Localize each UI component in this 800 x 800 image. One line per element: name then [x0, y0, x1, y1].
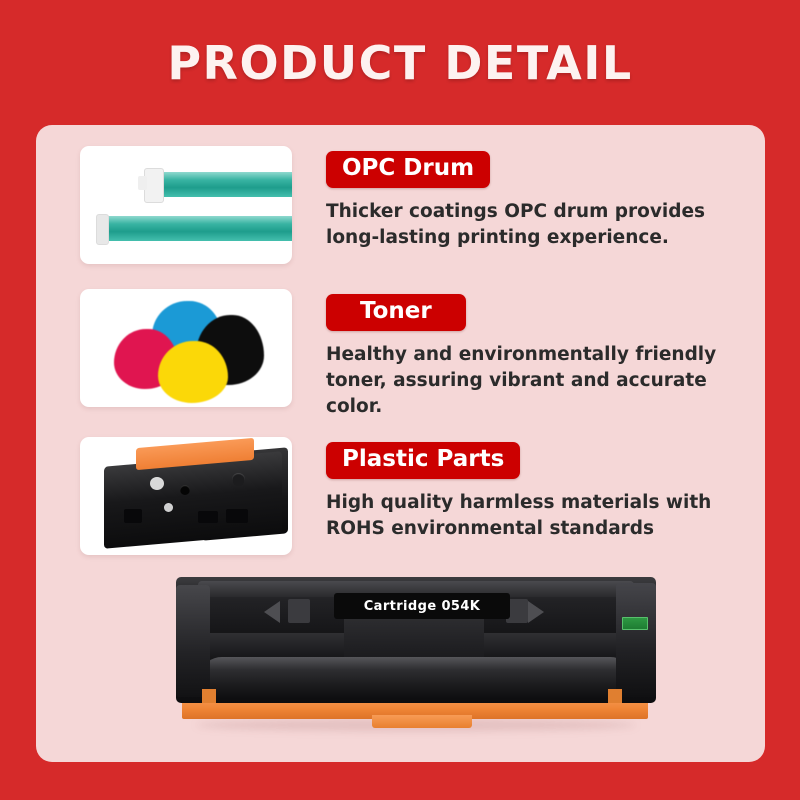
feature-row-toner: Toner Healthy and environmentally friend… [80, 289, 740, 407]
plastic-part-hole-icon [180, 485, 190, 495]
thumbnail-card-toner [80, 289, 292, 407]
plastic-part-slot-icon [226, 509, 248, 523]
content-panel: OPC Drum Thicker coatings OPC drum provi… [36, 125, 765, 762]
opc-drum-cylinder-top-icon [158, 172, 292, 197]
page-title: PRODUCT DETAIL [167, 36, 632, 90]
cartridge-left-foot [202, 689, 216, 703]
cartridge-right-end-cap [616, 583, 656, 697]
feature-text-plastic-parts: Plastic Parts High quality harmless mate… [326, 437, 740, 542]
plastic-part-slot-icon [198, 511, 218, 523]
cartridge-right-arrow-icon [528, 601, 544, 623]
opc-drum-nub-icon [138, 176, 147, 190]
cartridge-base-tab [372, 715, 472, 728]
cartridge-model-label: Cartridge 054K [334, 593, 510, 619]
opc-drum-endcap-bottom-icon [96, 214, 109, 245]
thumbnail-card-plastic-parts [80, 437, 292, 555]
feature-label-opc-drum: OPC Drum [326, 151, 490, 188]
cartridge-left-notch [288, 599, 310, 623]
feature-label-toner: Toner [326, 294, 466, 331]
feature-description-opc-drum: Thicker coatings OPC drum provides long-… [326, 199, 740, 252]
page-header: PRODUCT DETAIL [0, 0, 800, 125]
feature-text-opc-drum: OPC Drum Thicker coatings OPC drum provi… [326, 146, 740, 251]
opc-drum-cylinder-bottom-icon [104, 216, 292, 241]
cartridge-model-text: Cartridge 054K [364, 599, 481, 614]
plastic-part-slot-icon [124, 509, 142, 523]
feature-row-opc-drum: OPC Drum Thicker coatings OPC drum provi… [80, 146, 740, 264]
cartridge-right-foot [608, 689, 622, 703]
cartridge-drum-roller [202, 657, 630, 699]
plastic-part-front-body-icon [104, 451, 282, 549]
feature-description-plastic-parts: High quality harmless materials with ROH… [326, 490, 740, 543]
cartridge-green-chip-icon [622, 617, 648, 630]
feature-text-toner: Toner Healthy and environmentally friend… [326, 289, 740, 421]
cartridge-left-end-cap [176, 585, 210, 697]
product-cartridge-image: Cartridge 054K [176, 571, 656, 739]
plastic-part-hole-icon [150, 477, 164, 490]
cartridge-left-arrow-icon [264, 601, 280, 623]
opc-drum-endcap-top-icon [144, 168, 164, 203]
cartridge-center-block [344, 615, 484, 661]
toner-pile-yellow-icon [158, 341, 228, 403]
feature-row-plastic-parts: Plastic Parts High quality harmless mate… [80, 437, 740, 555]
plastic-part-hole-icon [164, 503, 173, 512]
thumbnail-card-opc-drum [80, 146, 292, 264]
feature-description-toner: Healthy and environmentally friendly ton… [326, 342, 740, 421]
feature-label-plastic-parts: Plastic Parts [326, 442, 520, 479]
plastic-part-hole-icon [232, 473, 245, 486]
